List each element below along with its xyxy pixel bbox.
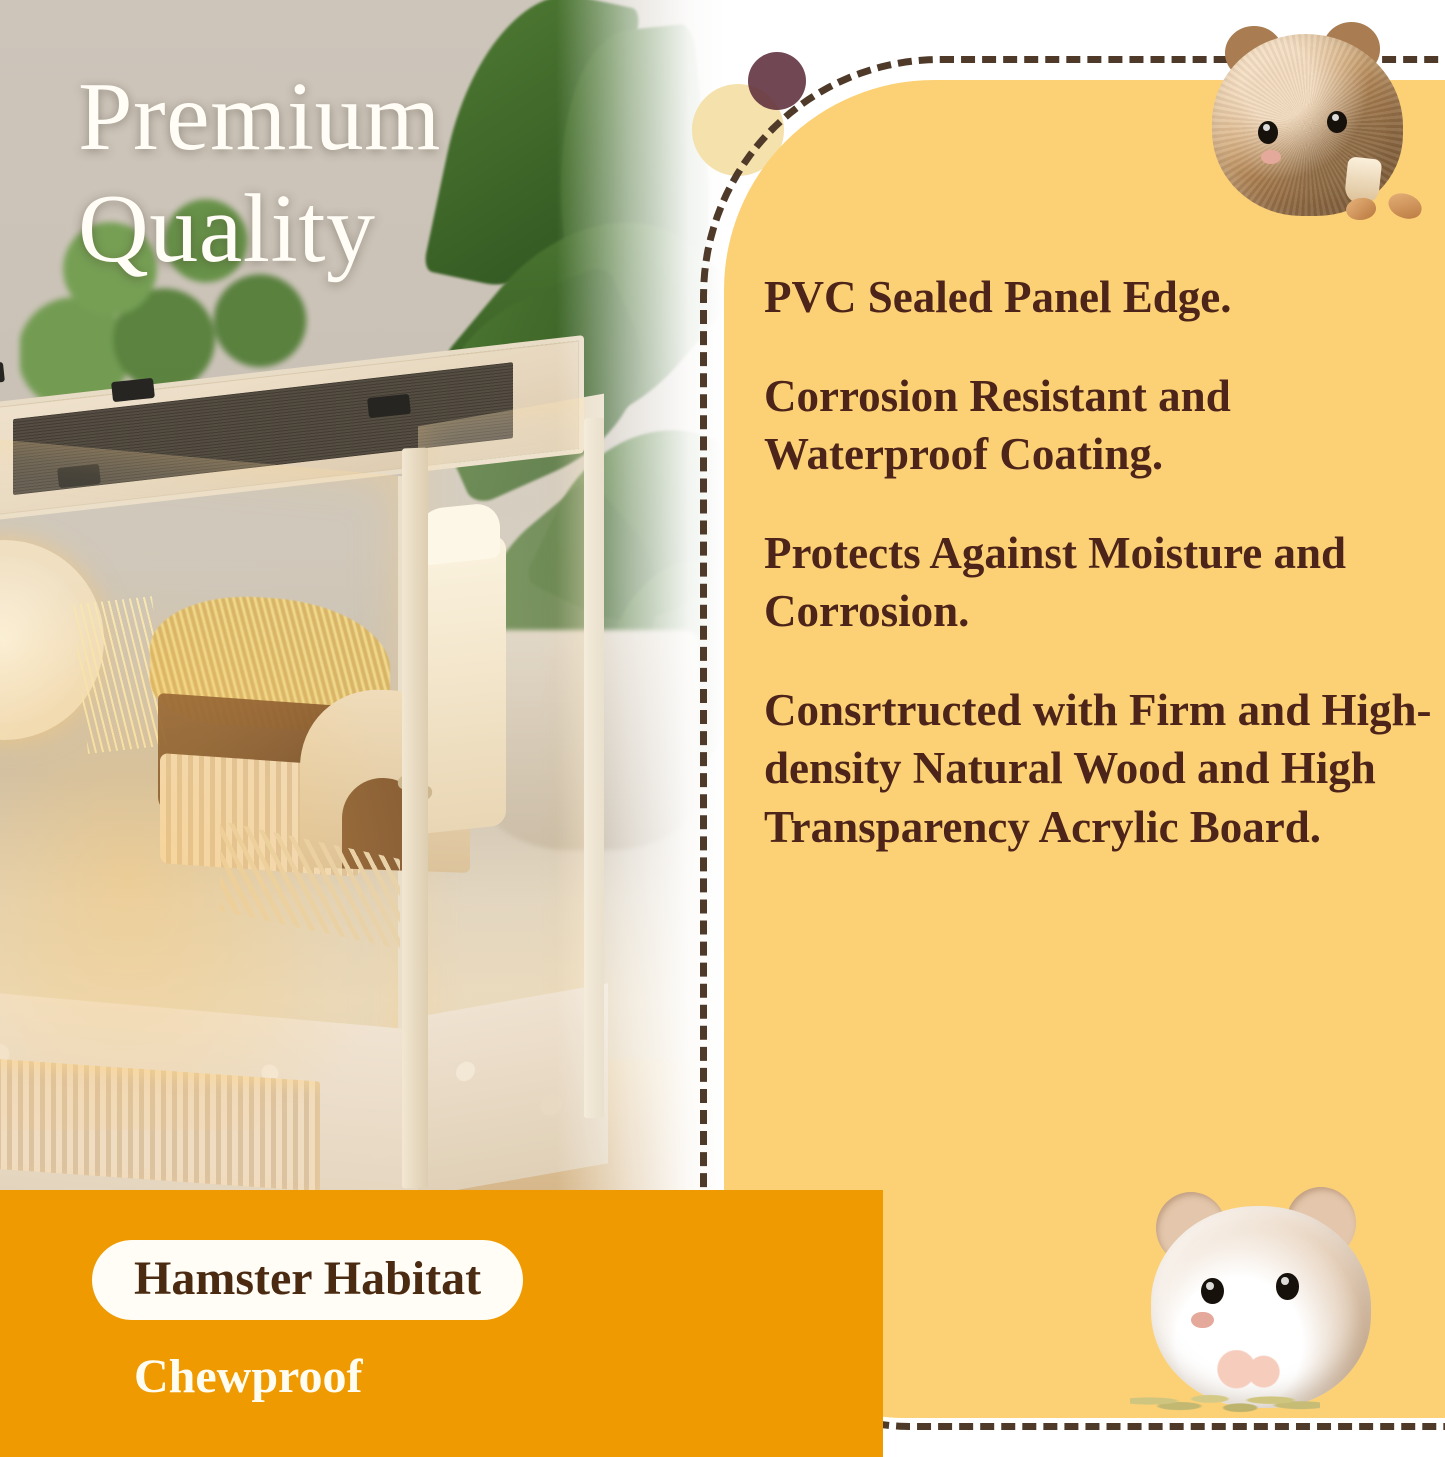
decorative-circle-maroon (748, 52, 806, 110)
page-title-line-1: Premium (78, 62, 678, 174)
wooden-fence (0, 1058, 320, 1191)
pumpkin-seeds (1130, 1380, 1320, 1422)
hamster-nose (1191, 1312, 1214, 1329)
golden-hamster-image (1194, 22, 1416, 228)
page-title-line-2: Quality (78, 174, 678, 286)
feature-list: PVC Sealed Panel Edge. Corrosion Resista… (764, 268, 1436, 856)
feature-item: Protects Against Moisture and Corrosion. (764, 524, 1436, 641)
footer-bar (0, 1190, 883, 1457)
hamster-eye (1201, 1278, 1224, 1304)
hamster-eye (1276, 1273, 1299, 1299)
cage-corner-post (402, 448, 428, 1189)
hamster-cage (0, 370, 630, 1230)
feature-item: Consrtructed with Firm and High-density … (764, 681, 1436, 857)
feature-item: PVC Sealed Panel Edge. (764, 268, 1436, 327)
footer-pill-label: Hamster Habitat (134, 1254, 481, 1304)
page-title: Premium Quality (78, 62, 678, 285)
white-hamster-image (1136, 1182, 1386, 1422)
hamster-body (1194, 22, 1416, 228)
footer-sub-label: Chewproof (134, 1352, 362, 1402)
footer-pill: Hamster Habitat (92, 1240, 523, 1320)
feature-item: Corrosion Resistant and Waterproof Coati… (764, 367, 1436, 484)
hamster-eye (1258, 121, 1278, 144)
hamster-nose (1261, 150, 1281, 164)
infographic-canvas: Premium Quality PVC Sealed Panel Edge. C… (0, 0, 1445, 1457)
